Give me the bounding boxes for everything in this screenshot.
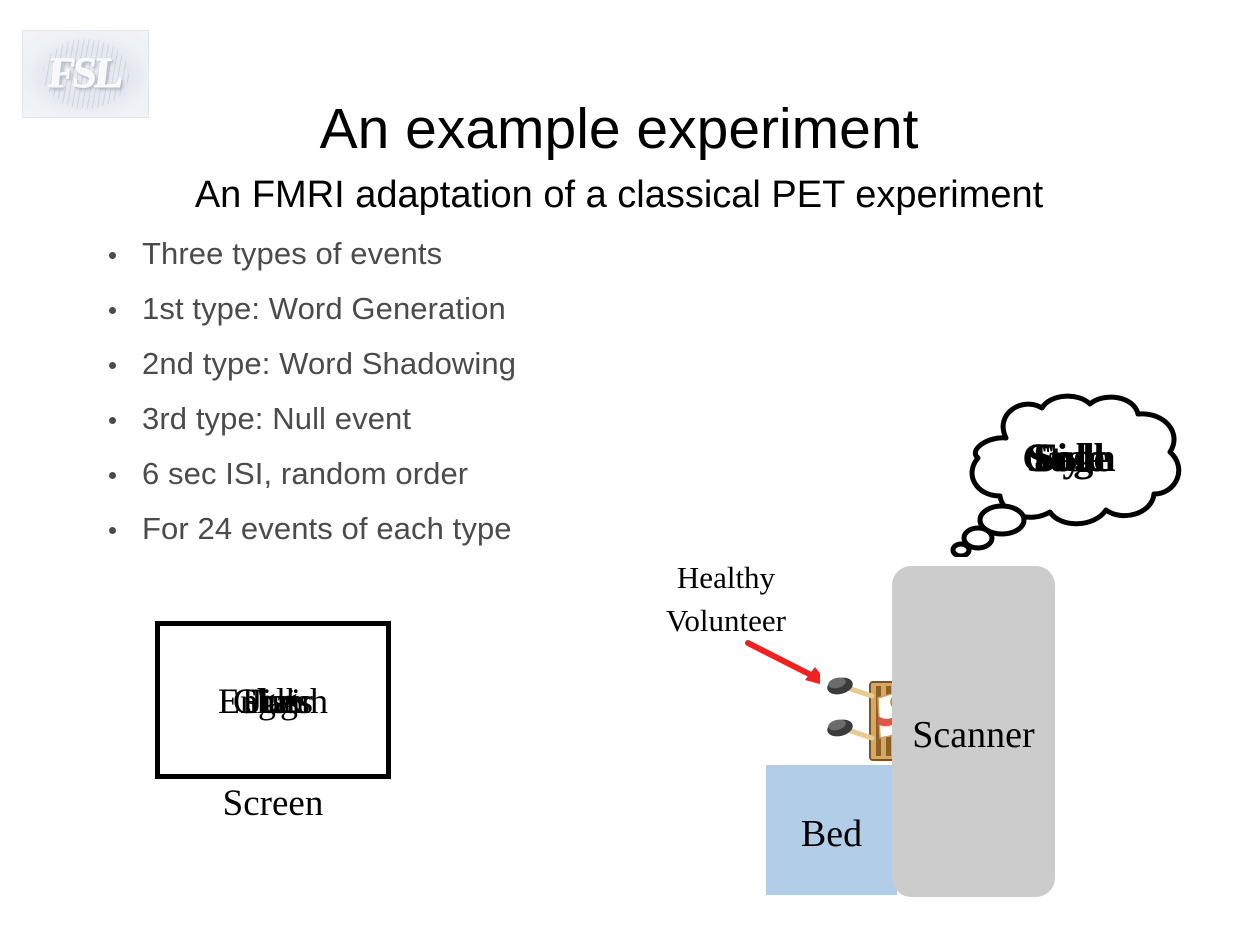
- screen-label: Screen: [155, 782, 391, 825]
- bullet-list: Three types of events 1st type: Word Gen…: [104, 232, 664, 562]
- list-item-label: 3rd type: Null event: [142, 401, 411, 436]
- bullet-dot-icon: [109, 527, 116, 534]
- list-item: 2nd type: Word Shadowing: [104, 342, 664, 386]
- list-item-label: Three types of events: [142, 236, 442, 271]
- scanner-label: Scanner: [892, 713, 1055, 757]
- fsl-logo-text: FSL: [20, 50, 150, 99]
- bullet-dot-icon: [109, 362, 116, 369]
- page-title: An example experiment: [0, 96, 1238, 162]
- list-item: Three types of events: [104, 232, 664, 276]
- slide-canvas: FSL An example experiment An FMRI adapta…: [0, 0, 1238, 950]
- list-item-label: 1st type: Word Generation: [142, 291, 506, 326]
- list-item: 3rd type: Null event: [104, 397, 664, 441]
- bullet-dot-icon: [109, 417, 116, 424]
- list-item: 6 sec ISI, random order: [104, 452, 664, 496]
- bullet-dot-icon: [109, 252, 116, 259]
- list-item: 1st type: Word Generation: [104, 287, 664, 331]
- page-subtitle: An FMRI adaptation of a classical PET ex…: [0, 174, 1238, 217]
- bed-label: Bed: [766, 812, 897, 856]
- volunteer-label-line1: Healthy: [640, 556, 812, 599]
- thought-bubble-icon: [944, 392, 1194, 557]
- list-item: For 24 events of each type: [104, 507, 664, 551]
- bullet-dot-icon: [109, 472, 116, 479]
- list-item-label: For 24 events of each type: [142, 511, 512, 546]
- bullet-dot-icon: [109, 307, 116, 314]
- list-item-label: 2nd type: Word Shadowing: [142, 346, 516, 381]
- screen-rectangle: [155, 621, 391, 779]
- list-item-label: 6 sec ISI, random order: [142, 456, 468, 491]
